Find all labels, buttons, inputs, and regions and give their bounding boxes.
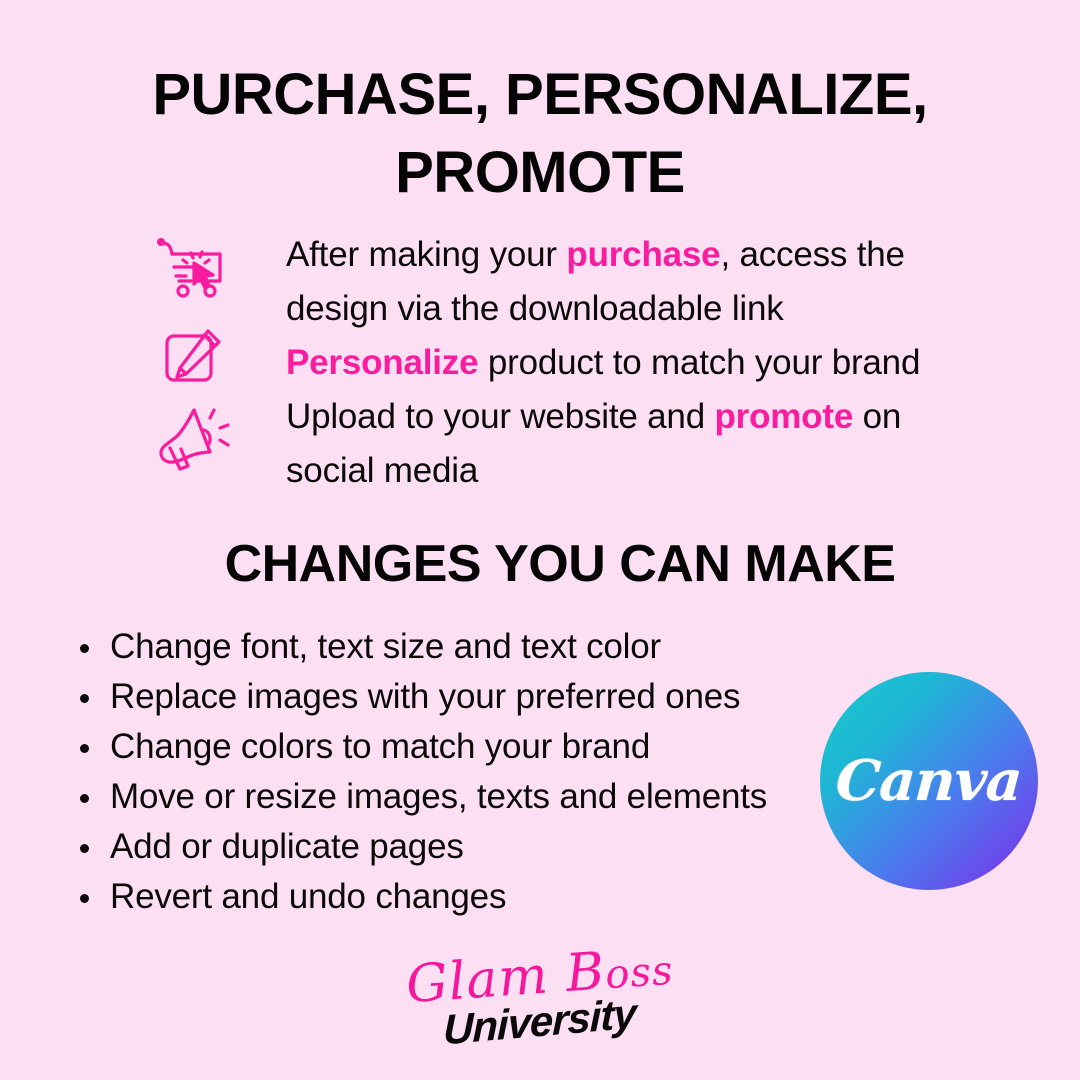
steps-section: After making your purchase, access the d… — [150, 228, 980, 498]
list-item: Revert and undo changes — [78, 872, 838, 922]
shopping-cart-click-icon — [156, 236, 232, 307]
step-text: product to match your brand — [478, 343, 920, 382]
canva-logo-badge: Canva — [820, 672, 1038, 890]
steps-icon-column — [150, 228, 270, 488]
step-line-purchase-1: After making your purchase, access the — [286, 228, 980, 282]
step-line-personalize: Personalize product to match your brand — [286, 336, 980, 390]
list-item: Replace images with your preferred ones — [78, 672, 838, 722]
page-title: PURCHASE, PERSONALIZE, PROMOTE — [110, 56, 970, 212]
step-text: on — [853, 397, 901, 436]
poster-canvas: PURCHASE, PERSONALIZE, PROMOTE — [0, 0, 1080, 1080]
step-highlight-personalize: Personalize — [286, 343, 478, 382]
changes-list: Change font, text size and text color Re… — [78, 622, 838, 922]
megaphone-icon — [150, 404, 234, 481]
steps-text-lines: After making your purchase, access the d… — [150, 228, 980, 498]
step-line-promote-1: Upload to your website and promote on — [286, 390, 980, 444]
step-highlight-promote: promote — [714, 397, 853, 436]
list-item: Change font, text size and text color — [78, 622, 838, 672]
step-text: Upload to your website and — [286, 397, 714, 436]
changes-heading: CHANGES YOU CAN MAKE — [60, 532, 1060, 596]
list-item: Add or duplicate pages — [78, 822, 838, 872]
step-text: , access the — [720, 235, 904, 274]
brand-logo: Glam Boss University — [0, 946, 1080, 1056]
step-text: After making your — [286, 235, 566, 274]
list-item: Move or resize images, texts and element… — [78, 772, 838, 822]
step-text: social media — [286, 451, 478, 490]
brand-university-text: University — [443, 989, 636, 1054]
step-line-purchase-2: design via the downloadable link — [286, 282, 980, 336]
brand-university-wrapper: University — [0, 998, 1080, 1046]
step-line-promote-2: social media — [286, 444, 980, 498]
step-text: design via the downloadable link — [286, 289, 784, 328]
pencil-edit-icon — [164, 328, 222, 391]
step-highlight-purchase: purchase — [566, 235, 720, 274]
canva-wordmark: Canva — [834, 748, 1024, 814]
list-item: Change colors to match your brand — [78, 722, 838, 772]
